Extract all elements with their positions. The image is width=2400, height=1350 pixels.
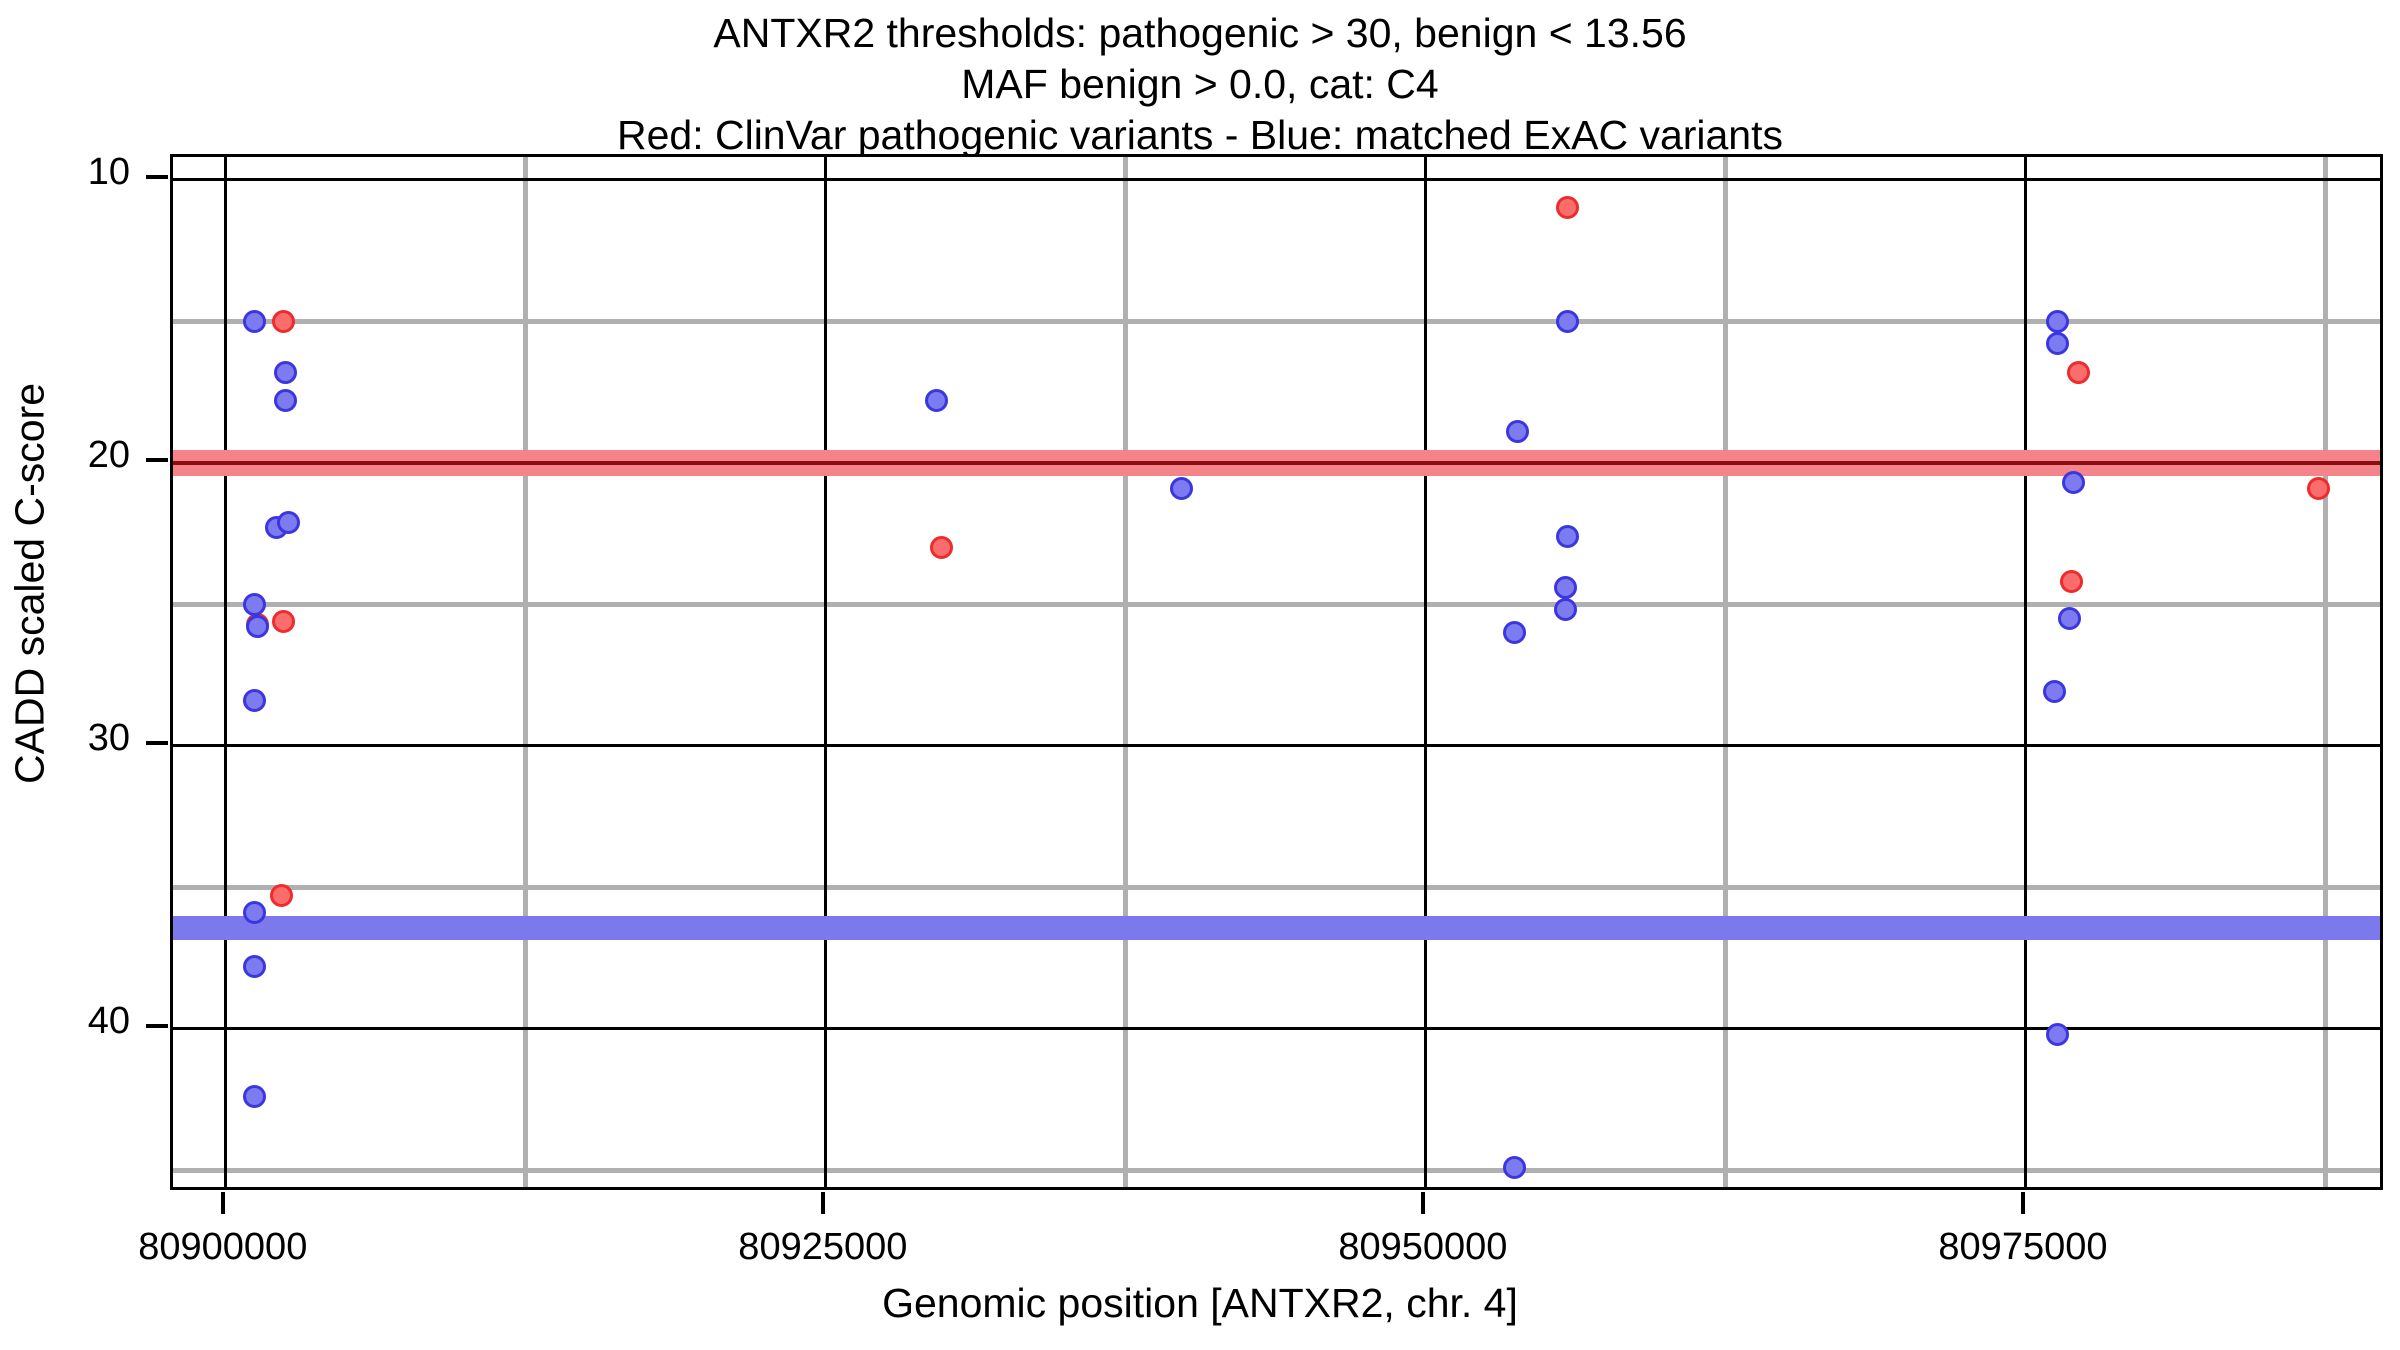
- gridline-horizontal: [173, 1168, 2380, 1173]
- data-point-benign: [1503, 1156, 1526, 1179]
- gridline-vertical-minor: [523, 157, 528, 1187]
- x-axis-tick-label: 80925000: [738, 1226, 907, 1269]
- data-point-benign: [243, 955, 266, 978]
- data-point-benign: [1503, 621, 1526, 644]
- y-axis-tick-label: 40: [0, 1000, 130, 1043]
- data-point-benign: [2046, 310, 2069, 333]
- y-axis-tick-label: 10: [0, 151, 130, 194]
- data-point-benign: [2046, 1023, 2069, 1046]
- data-point-pathogenic: [270, 884, 293, 907]
- data-point-pathogenic: [2307, 477, 2330, 500]
- data-point-benign: [2043, 680, 2066, 703]
- x-axis-tick-label: 80950000: [1338, 1226, 1507, 1269]
- data-point-benign: [1554, 598, 1577, 621]
- data-point-benign: [1506, 420, 1529, 443]
- data-point-benign: [2058, 607, 2081, 630]
- y-axis-tick-mark: [146, 175, 168, 179]
- data-point-pathogenic: [272, 310, 295, 333]
- data-point-pathogenic: [272, 610, 295, 633]
- x-axis-tick-mark: [2021, 1192, 2025, 1214]
- data-point-pathogenic: [1556, 196, 1579, 219]
- data-point-benign: [243, 689, 266, 712]
- data-point-benign: [243, 310, 266, 333]
- gridline-vertical-major: [224, 157, 227, 1187]
- y-axis-tick-label: 20: [0, 434, 130, 477]
- x-axis-tick-label: 80900000: [138, 1226, 307, 1269]
- gridline-vertical-minor: [1123, 157, 1128, 1187]
- data-point-benign: [2062, 471, 2085, 494]
- gridline-vertical-minor: [2323, 157, 2328, 1187]
- data-point-benign: [2046, 332, 2069, 355]
- plot-area: [170, 154, 2383, 1190]
- data-point-pathogenic: [2067, 361, 2090, 384]
- gridline-horizontal-major: [173, 744, 2380, 747]
- y-axis-tick-label: 30: [0, 717, 130, 760]
- data-point-benign: [246, 615, 269, 638]
- data-point-benign: [1554, 576, 1577, 599]
- chart-title-line-2: MAF benign > 0.0, cat: C4: [0, 59, 2400, 110]
- x-axis-tick-mark: [221, 1192, 225, 1214]
- data-point-benign: [243, 593, 266, 616]
- x-axis-label: Genomic position [ANTXR2, chr. 4]: [0, 1280, 2400, 1327]
- data-point-pathogenic: [930, 536, 953, 559]
- gridline-vertical-major: [1424, 157, 1427, 1187]
- scatter-plot-figure: ANTXR2 thresholds: pathogenic > 30, beni…: [0, 0, 2400, 1350]
- gridline-vertical-minor: [1723, 157, 1728, 1187]
- data-point-benign: [925, 389, 948, 412]
- y-axis-label-wrap: CADD scaled C-score: [0, 0, 80, 1350]
- gridline-vertical-major: [824, 157, 827, 1187]
- pathogenic-threshold-band: [173, 450, 2380, 476]
- y-axis-tick-mark: [146, 1024, 168, 1028]
- gridline-vertical-major: [2024, 157, 2027, 1187]
- chart-title: ANTXR2 thresholds: pathogenic > 30, beni…: [0, 8, 2400, 161]
- data-point-benign: [274, 389, 297, 412]
- y-axis-tick-mark: [146, 741, 168, 745]
- y-axis-tick-mark: [146, 458, 168, 462]
- data-point-benign: [274, 361, 297, 384]
- data-point-pathogenic: [2060, 570, 2083, 593]
- gridline-horizontal: [173, 602, 2380, 607]
- data-point-benign: [1556, 525, 1579, 548]
- data-point-benign: [277, 511, 300, 534]
- data-point-benign: [1556, 310, 1579, 333]
- data-point-benign: [243, 1085, 266, 1108]
- benign-threshold-band: [173, 916, 2380, 940]
- chart-title-line-1: ANTXR2 thresholds: pathogenic > 30, beni…: [0, 8, 2400, 59]
- pathogenic-threshold-line: [173, 461, 2380, 465]
- gridline-horizontal-major: [173, 178, 2380, 181]
- gridline-horizontal: [173, 885, 2380, 890]
- data-point-benign: [1170, 477, 1193, 500]
- x-axis-tick-label: 80975000: [1938, 1226, 2107, 1269]
- y-axis-label: CADD scaled C-score: [7, 84, 54, 1084]
- x-axis-tick-mark: [821, 1192, 825, 1214]
- x-axis-tick-mark: [1421, 1192, 1425, 1214]
